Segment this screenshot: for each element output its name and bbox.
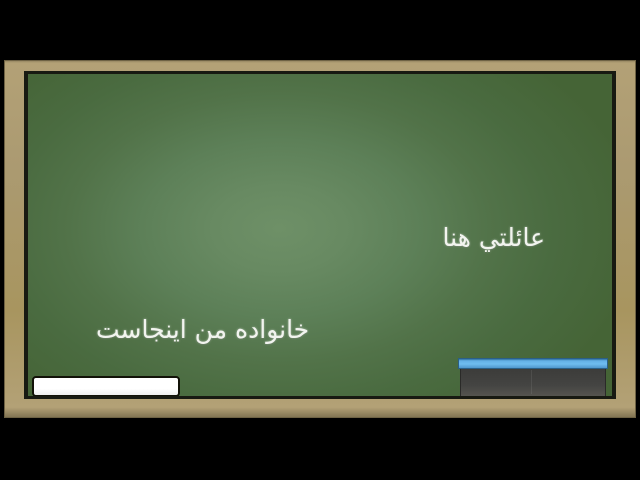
board-eraser[interactable] (458, 358, 608, 396)
eraser-body (460, 369, 606, 396)
eraser-seam-line (531, 370, 532, 394)
chalk-stick[interactable] (32, 376, 180, 396)
letterbox-bar-top (0, 0, 640, 58)
chalkboard-writing-surface[interactable]: عائلتي هنا خانواده من اینجاست (28, 74, 612, 396)
chalkboard-scene: عائلتي هنا خانواده من اینجاست (0, 0, 640, 480)
chalk-text-persian: خانواده من اینجاست (96, 315, 309, 345)
chalk-text-arabic: عائلتي هنا (443, 223, 545, 253)
eraser-top-strip (458, 358, 608, 369)
letterbox-bar-bottom (0, 418, 640, 480)
